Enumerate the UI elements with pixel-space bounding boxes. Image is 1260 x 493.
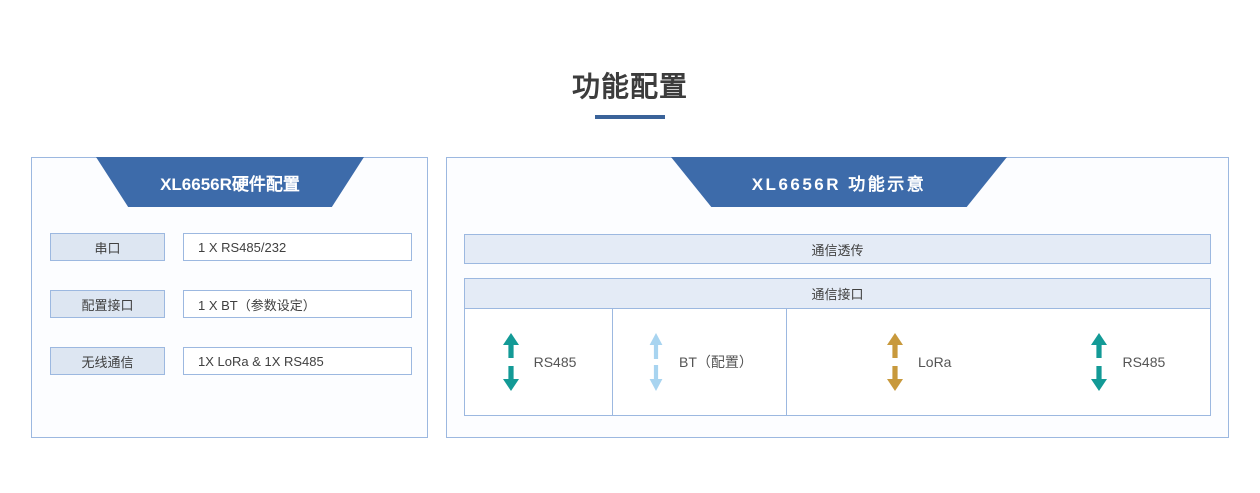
port-label-rs485-serial: RS485 [534, 354, 577, 370]
title-underline [595, 115, 665, 119]
page-title: 功能配置 [0, 68, 1260, 106]
communication-interface-bar: 通信接口 [464, 278, 1211, 308]
spec-label-config-interface: 配置接口 [50, 290, 165, 318]
spec-row-wireless: 无线通信 1X LoRa & 1X RS485 [50, 347, 412, 375]
interface-cell-group: RS485 BT（配置） [464, 308, 1211, 416]
spec-row-config-interface: 配置接口 1 X BT（参数设定） [50, 290, 412, 318]
interface-cell-radio: LoRa RS485 [787, 309, 1210, 415]
port-label-rs485-wireless: RS485 [1122, 354, 1165, 370]
port-rs485-wireless: RS485 [1089, 333, 1165, 391]
double-arrow-icon [501, 333, 521, 391]
spec-value-config-interface: 1 X BT（参数设定） [183, 290, 412, 318]
double-arrow-icon [1089, 333, 1109, 391]
hardware-config-banner: XL6656R硬件配置 [96, 157, 364, 207]
hardware-config-panel: XL6656R硬件配置 串口 1 X RS485/232 配置接口 1 X BT… [31, 157, 428, 438]
spec-value-wireless: 1X LoRa & 1X RS485 [183, 347, 412, 375]
function-diagram-panel: XL6656R 功能示意 通信透传 通信接口 RS485 [446, 157, 1229, 438]
port-bt: BT（配置） [646, 333, 753, 391]
hardware-spec-list: 串口 1 X RS485/232 配置接口 1 X BT（参数设定） 无线通信 … [50, 233, 412, 375]
double-arrow-icon [646, 333, 666, 391]
port-label-bt: BT（配置） [679, 352, 753, 372]
port-rs485-serial: RS485 [501, 333, 577, 391]
spec-label-wireless: 无线通信 [50, 347, 165, 375]
spec-row-serial: 串口 1 X RS485/232 [50, 233, 412, 261]
page-title-block: 功能配置 [0, 68, 1260, 119]
function-diagram: 通信透传 通信接口 RS485 [464, 234, 1211, 416]
double-arrow-icon [885, 333, 905, 391]
interface-cell-rs485: RS485 [465, 309, 613, 415]
interface-cell-bt: BT（配置） [613, 309, 787, 415]
spec-label-serial: 串口 [50, 233, 165, 261]
spec-value-serial: 1 X RS485/232 [183, 233, 412, 261]
port-lora: LoRa [885, 333, 951, 391]
transparent-transmission-bar: 通信透传 [464, 234, 1211, 264]
port-label-lora: LoRa [918, 354, 951, 370]
function-diagram-banner: XL6656R 功能示意 [671, 157, 1007, 207]
